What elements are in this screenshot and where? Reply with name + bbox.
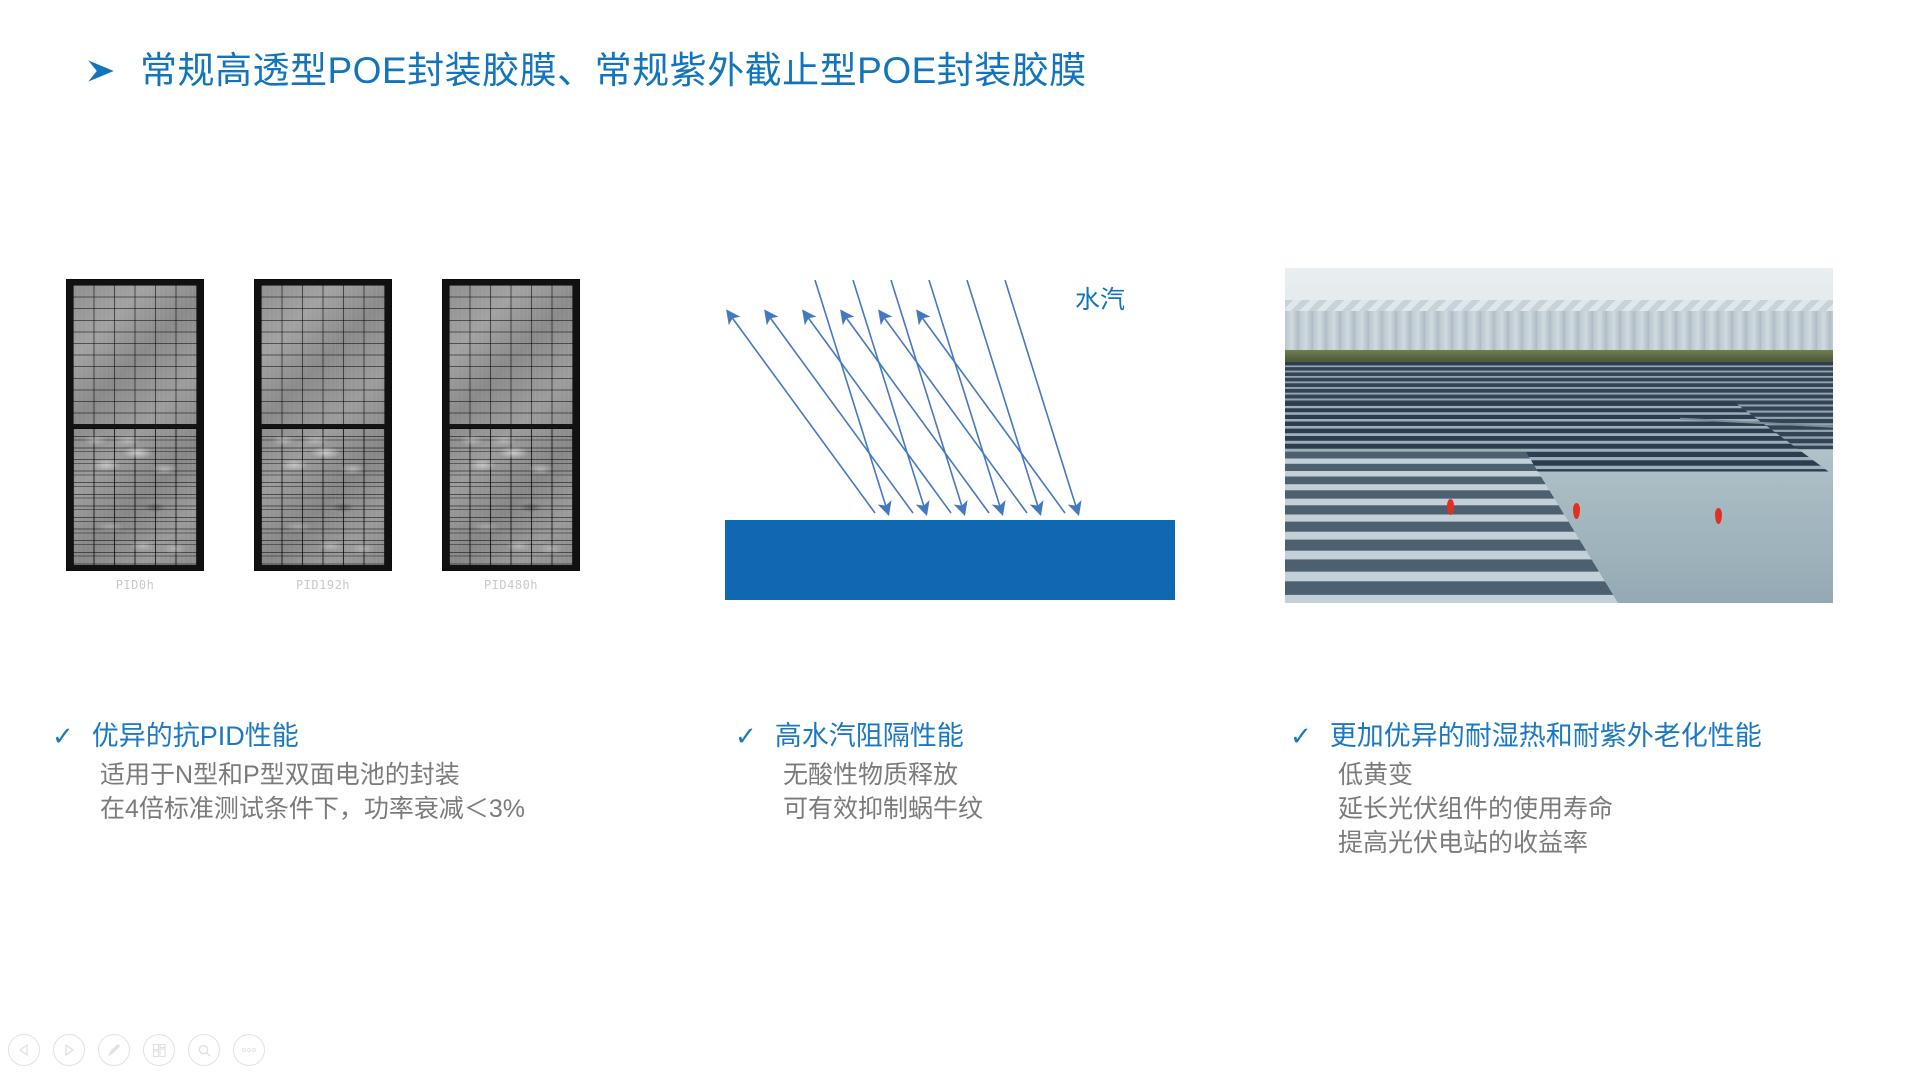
el-image-item: PID480h	[443, 280, 579, 570]
arrow-bullet-icon	[84, 54, 118, 88]
page-title: 常规高透型POE封装胶膜、常规紫外截止型POE封装胶膜	[84, 52, 1087, 89]
grid-icon	[152, 1043, 167, 1058]
previous-slide-button[interactable]	[8, 1034, 40, 1066]
feature-description: 低黄变 延长光伏组件的使用寿命 提高光伏电站的收益率	[1338, 758, 1762, 861]
el-panel-image	[255, 280, 391, 570]
ellipsis-icon	[241, 1047, 257, 1053]
feature-description: 无酸性物质释放 可有效抑制蜗牛纹	[783, 758, 983, 827]
feature-line: 低黄变	[1338, 758, 1762, 792]
feature-block-weather-resistance: ✓ 更加优异的耐湿热和耐紫外老化性能 低黄变 延长光伏组件的使用寿命 提高光伏电…	[1290, 722, 1762, 860]
pen-annotate-button[interactable]	[98, 1034, 130, 1066]
feature-title: 更加优异的耐湿热和耐紫外老化性能	[1330, 722, 1762, 752]
barrier-film-block	[725, 520, 1175, 600]
feature-line: 延长光伏组件的使用寿命	[1338, 792, 1762, 826]
check-icon: ✓	[1290, 723, 1312, 749]
feature-description: 适用于N型和P型双面电池的封装 在4倍标准测试条件下，功率衰减＜3%	[100, 758, 525, 827]
slide-overview-button[interactable]	[143, 1034, 175, 1066]
el-panel-image	[67, 280, 203, 570]
feature-line: 无酸性物质释放	[783, 758, 983, 792]
triangle-right-icon	[62, 1043, 76, 1057]
presentation-toolbar	[8, 1034, 265, 1066]
water-vapour-arrows	[700, 270, 1200, 610]
feature-title: 优异的抗PID性能	[92, 722, 299, 752]
feature-block-vapour-barrier: ✓ 高水汽阻隔性能 无酸性物质释放 可有效抑制蜗牛纹	[735, 722, 983, 826]
feature-block-anti-pid: ✓ 优异的抗PID性能 适用于N型和P型双面电池的封装 在4倍标准测试条件下，功…	[52, 722, 525, 826]
feature-line: 适用于N型和P型双面电池的封装	[100, 758, 525, 792]
feature-line: 在4倍标准测试条件下，功率衰减＜3%	[100, 792, 525, 826]
water-vapour-barrier-diagram: 水汽	[700, 270, 1200, 610]
zoom-button[interactable]	[188, 1034, 220, 1066]
photo-greenhouses	[1285, 308, 1833, 352]
feature-line: 提高光伏电站的收益率	[1338, 826, 1762, 860]
feature-title: 高水汽阻隔性能	[775, 722, 964, 752]
magnifier-icon	[197, 1043, 212, 1058]
feature-line: 可有效抑制蜗牛纹	[783, 792, 983, 826]
floating-solar-farm-photo	[1285, 268, 1833, 603]
page-title-text: 常规高透型POE封装胶膜、常规紫外截止型POE封装胶膜	[140, 52, 1087, 89]
pid-el-image-group: PID0h PID192h PID480h	[60, 280, 600, 600]
el-image-item: PID0h	[67, 280, 203, 570]
el-image-caption: PID192h	[235, 578, 411, 592]
el-image-caption: PID480h	[423, 578, 599, 592]
el-panel-image	[443, 280, 579, 570]
el-image-item: PID192h	[255, 280, 391, 570]
water-vapour-label: 水汽	[1075, 280, 1125, 316]
check-icon: ✓	[52, 723, 74, 749]
check-icon: ✓	[735, 723, 757, 749]
photo-buoy	[1447, 499, 1454, 515]
el-image-caption: PID0h	[47, 578, 223, 592]
photo-buoy	[1573, 503, 1580, 519]
triangle-left-icon	[17, 1043, 31, 1057]
next-slide-button[interactable]	[53, 1034, 85, 1066]
more-options-button[interactable]	[233, 1034, 265, 1066]
pen-icon	[106, 1042, 122, 1058]
